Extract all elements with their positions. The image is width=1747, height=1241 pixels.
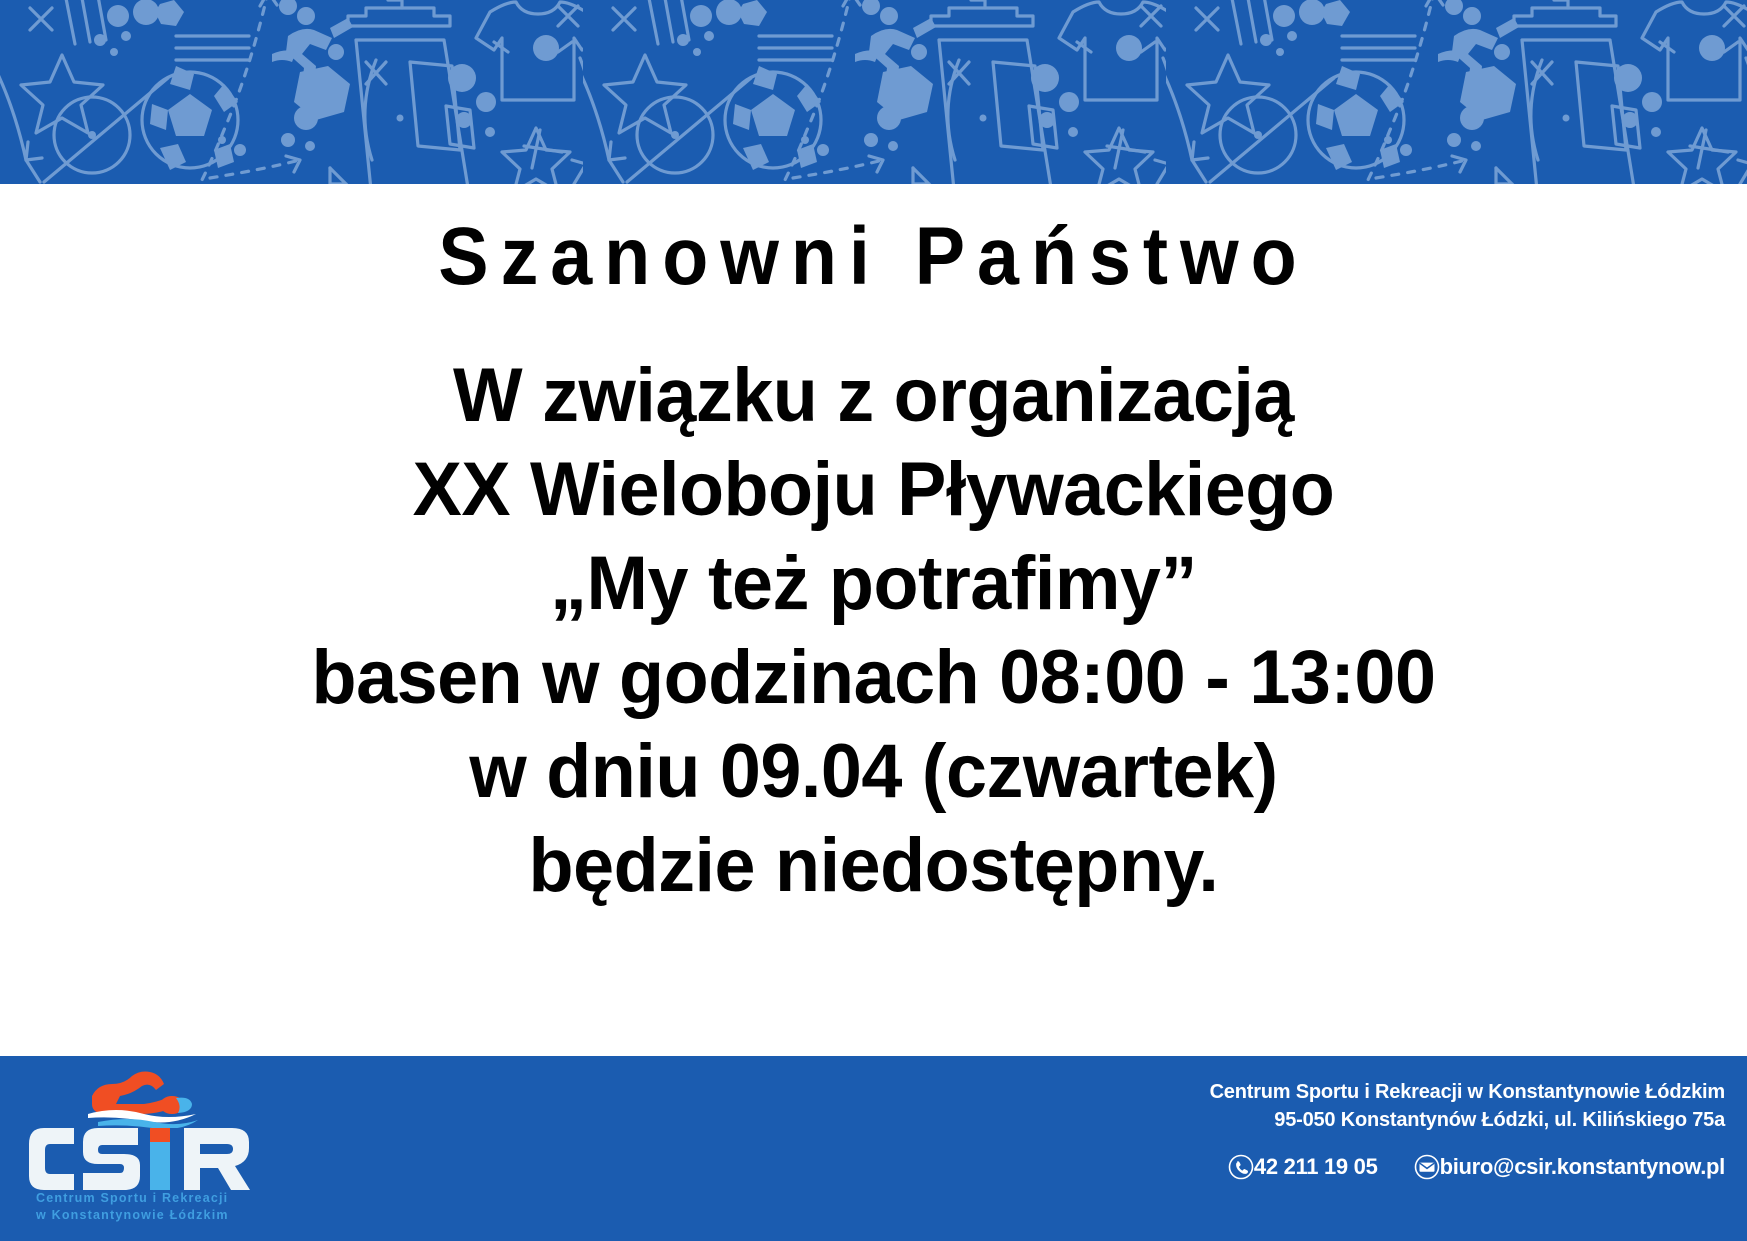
organization-address: 95-050 Konstantynów Łódzki, ul. Kiliński… [1210, 1106, 1725, 1134]
notice-line-4: basen w godzinach 08:00 - 13:00 [26, 631, 1721, 725]
phone-contact[interactable]: 42 211 19 05 [1228, 1154, 1378, 1180]
contact-row: 42 211 19 05 biuro@csir.konstantynow.pl [1210, 1154, 1725, 1180]
notice-line-6: będzie niedostępny. [26, 819, 1721, 913]
notice-line-3: „My też potrafimy” [26, 537, 1721, 631]
footer-band: Centrum Sportu i Rekreacji w Konstantyno… [0, 1056, 1747, 1241]
swimmer-icon [86, 1070, 204, 1128]
notice-line-1: W związku z organizacją [26, 349, 1721, 443]
notice-content-area: Szanowni Państwo W związku z organizacją… [0, 184, 1747, 1056]
sports-doodle-pattern [0, 0, 1747, 184]
envelope-icon [1414, 1154, 1440, 1180]
csir-tagline: Centrum Sportu i Rekreacji w Konstantyno… [36, 1190, 266, 1224]
organization-name: Centrum Sportu i Rekreacji w Konstantyno… [1210, 1078, 1725, 1106]
notice-body: W związku z organizacją XX Wieloboju Pły… [0, 349, 1747, 913]
header-sports-pattern-band [0, 0, 1747, 184]
notice-line-2: XX Wieloboju Pływackiego [26, 443, 1721, 537]
footer-contact-block: Centrum Sportu i Rekreacji w Konstantyno… [1210, 1078, 1725, 1180]
notice-line-5: w dniu 09.04 (czwartek) [26, 725, 1721, 819]
csir-tagline-line2: w Konstantynowie Łódzkim [36, 1207, 266, 1224]
phone-number: 42 211 19 05 [1254, 1154, 1378, 1180]
csir-logo: Centrum Sportu i Rekreacji w Konstantyno… [28, 1070, 278, 1232]
email-contact[interactable]: biuro@csir.konstantynow.pl [1414, 1154, 1725, 1180]
page-title: Szanowni Państwo [70, 216, 1677, 298]
phone-icon [1228, 1154, 1254, 1180]
csir-wordmark [28, 1126, 268, 1192]
csir-tagline-line1: Centrum Sportu i Rekreacji [36, 1190, 266, 1207]
email-address: biuro@csir.konstantynow.pl [1440, 1154, 1725, 1180]
